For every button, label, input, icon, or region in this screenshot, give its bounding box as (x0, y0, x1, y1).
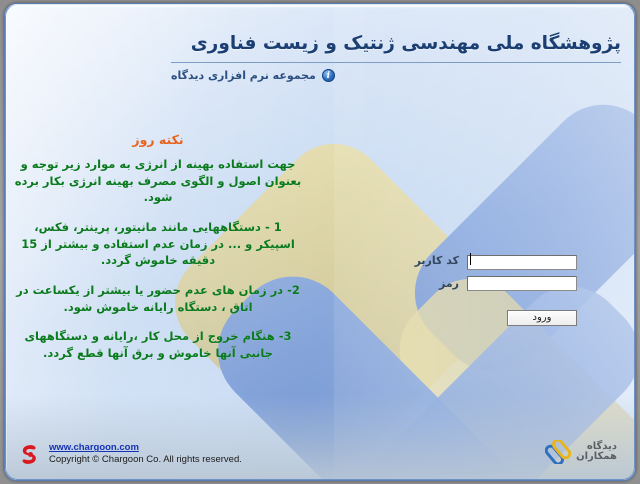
copyright-text: Copyright © Chargoon Co. All rights rese… (49, 454, 242, 466)
header-divider (171, 62, 621, 63)
username-row: کد کاربر (397, 251, 577, 270)
tip-of-the-day-panel: نکته روز جهت استفاده بهینه از انرژی به م… (13, 132, 303, 362)
page-title: پژوهشگاه ملی مهندسی ژنتیک و زیست فناوری (171, 32, 621, 55)
tip-paragraph: جهت استفاده بهینه از انرژی به موارد زیر … (13, 156, 303, 206)
info-icon[interactable] (322, 69, 335, 82)
username-label: کد کاربر (415, 254, 459, 267)
username-input-wrapper (467, 251, 577, 270)
tip-paragraph: 2- در زمان های عدم حضور یا بیشتر از یکسا… (13, 282, 303, 315)
login-submit-button[interactable]: ورود (507, 310, 577, 326)
subtitle-row: مجموعه نرم افزاری دیدگاه (171, 69, 621, 82)
chargoon-website-link[interactable]: www.chargoon.com (49, 442, 242, 454)
chargoon-logo-icon (19, 443, 42, 466)
brand-line-2: همکاران (576, 452, 617, 463)
application-window: پژوهشگاه ملی مهندسی ژنتیک و زیست فناوری … (4, 3, 636, 481)
login-form: کد کاربر رمز ورود (397, 251, 577, 326)
password-input[interactable] (467, 276, 577, 291)
tip-paragraph: 3- هنگام خروج از محل کار ،رایانه و دستگا… (13, 328, 303, 361)
text-cursor (470, 253, 471, 265)
didgah-brand-logo: دیدگاه همکاران (545, 440, 617, 464)
username-input[interactable] (467, 255, 577, 270)
tip-heading: نکته روز (13, 132, 303, 147)
brand-wordmark: دیدگاه همکاران (576, 442, 617, 463)
footer-text-block: www.chargoon.com Copyright © Chargoon Co… (49, 442, 242, 466)
password-label: رمز (439, 277, 459, 290)
password-row: رمز (397, 276, 577, 291)
page-header: پژوهشگاه ملی مهندسی ژنتیک و زیست فناوری … (171, 32, 621, 82)
tip-paragraph: 1 - دستگاههایی مانند مانیتور، پرینتر، فک… (13, 219, 303, 269)
didgah-link-logo-icon (545, 440, 571, 464)
footer: www.chargoon.com Copyright © Chargoon Co… (19, 442, 242, 466)
page-subtitle: مجموعه نرم افزاری دیدگاه (171, 69, 316, 82)
